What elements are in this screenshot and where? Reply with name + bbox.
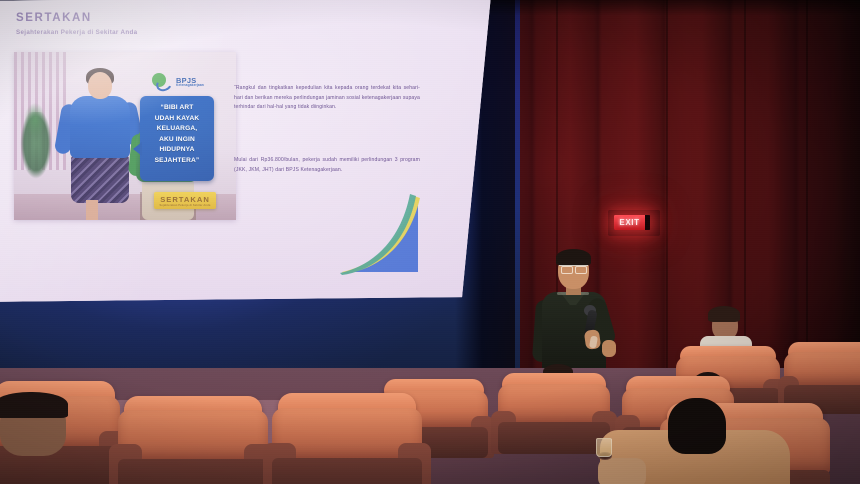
- cinema-auditorium-photo: SERTAKAN Sejahterakan Pekerja di Sekitar…: [0, 0, 860, 484]
- photo-woman-blue-batik-skirt: [71, 155, 129, 203]
- speaker-hair: [556, 249, 591, 266]
- sertakan-badge-label: SERTAKAN: [160, 195, 210, 204]
- slide-speech-bubble: “BIBI ART UDAH KAYAK KELUARGA, AKU INGIN…: [140, 96, 214, 181]
- seat-row-front-center[interactable]: [272, 408, 422, 484]
- sertakan-badge: SERTAKAN Sejahterakan Pekerja di Sekitar…: [154, 192, 216, 209]
- bpjs-logo-line2: Ketenagakerjaan: [176, 84, 204, 87]
- presentation-slide: SERTAKAN Sejahterakan Pekerja di Sekitar…: [0, 0, 500, 308]
- audience-foreground-hand: [598, 458, 646, 484]
- audience-foreground-head: [668, 398, 726, 454]
- photo-woman-blue-sweater: [70, 96, 130, 158]
- sertakan-badge-sublabel: Sejahterakan Pekerja di Sekitar Anda: [159, 204, 210, 207]
- slide-title: SERTAKAN: [16, 12, 92, 24]
- speech-bubble-text: “BIBI ART UDAH KAYAK KELUARGA, AKU INGIN…: [145, 103, 209, 166]
- seat-row-front-left-2[interactable]: [118, 410, 268, 484]
- exit-sign: EXIT: [614, 215, 650, 230]
- projection-screen: SERTAKAN Sejahterakan Pekerja di Sekitar…: [0, 0, 500, 308]
- slide-paragraph-1: “Rangkul dan tingkatkan kepedulian kita …: [234, 84, 420, 113]
- audience-left-hair: [0, 392, 68, 418]
- exit-sign-label: EXIT: [619, 218, 639, 227]
- photo-woman-blue-head: [88, 72, 112, 99]
- seat-row-mid-center[interactable]: [498, 384, 610, 454]
- photo-woman-blue-leg: [86, 200, 98, 220]
- brand-swoosh-graphic: [340, 194, 426, 276]
- slide-paragraph-2: Mulai dari Rp36.800/bulan, pekerja sudah…: [234, 156, 420, 175]
- photo-plant-leaves: [20, 96, 50, 144]
- bpjs-logo-text: BPJS Ketenagakerjaan: [176, 77, 204, 88]
- speaker-hand-left: [602, 340, 616, 357]
- speaker-glasses-icon: [559, 265, 588, 272]
- speech-bubble-tail-icon: [133, 142, 142, 156]
- drink-cup: [596, 438, 612, 457]
- bpjs-logo-mark-icon: [152, 72, 172, 92]
- audience-hair-far: [708, 306, 740, 322]
- screen-surface: SERTAKAN Sejahterakan Pekerja di Sekitar…: [0, 0, 500, 308]
- bpjs-logo: BPJS Ketenagakerjaan: [152, 72, 204, 92]
- slide-subtitle: Sejahterakan Pekerja di Sekitar Anda: [16, 29, 137, 36]
